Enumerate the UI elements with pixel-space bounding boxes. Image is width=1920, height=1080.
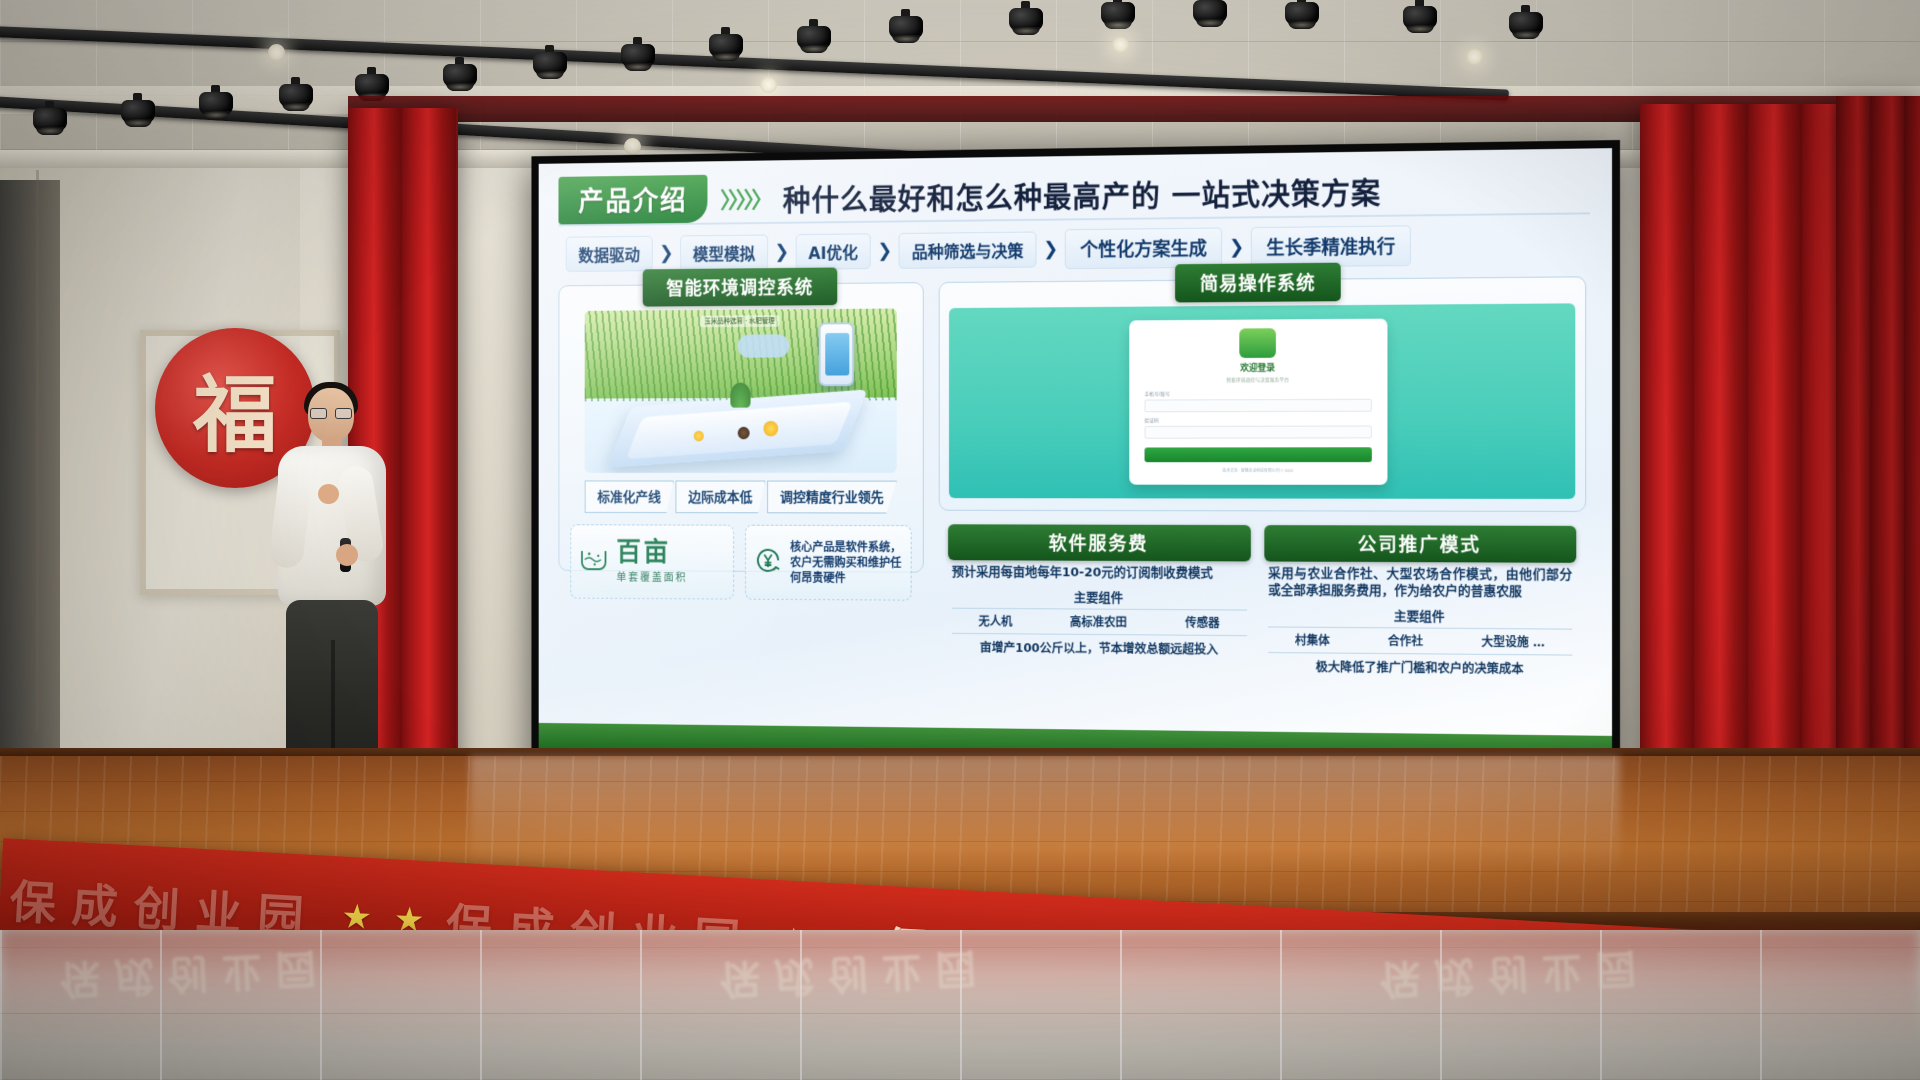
feature-pill-3: 调控精度行业领先 (767, 481, 897, 514)
pricing-tag-1: 无人机 (979, 613, 1013, 630)
chevron-run-icon: 〉〉〉〉〉 (720, 182, 770, 215)
pricing-tag-3: 传感器 (1185, 614, 1220, 631)
spotlight-icon (618, 44, 658, 74)
spotlight-icon (530, 52, 570, 82)
spotlight-icon (1006, 8, 1046, 38)
app-code-input[interactable] (1145, 426, 1372, 439)
pricing-card-header: 软件服务费 (948, 524, 1251, 561)
feature-pill-2: 边际成本低 (675, 481, 765, 514)
spotlight-icon (276, 84, 316, 114)
presenter-trousers (286, 600, 378, 770)
app-login-button[interactable] (1145, 447, 1372, 462)
cloud-icon (738, 334, 790, 357)
presentation-hall-scene: 产品介绍 〉〉〉〉〉 种什么最好和怎么种最高产的 一站式决策方案 数据驱动 ❯ … (0, 0, 1920, 1080)
coverage-stat-text: 百亩 单套覆盖面积 (616, 539, 687, 584)
presenter (252, 388, 412, 808)
promotion-card-subtitle: 主要组件 (1268, 605, 1572, 626)
spotlight-icon (1506, 12, 1546, 42)
pricing-card-body: 预计采用每亩地每年10-20元的订阅制收费模式 主要组件 无人机 高标准农田 传… (948, 560, 1251, 657)
promotion-card-tags: 村集体 合作社 大型设施 … (1268, 626, 1572, 655)
downlight-icon (268, 44, 285, 61)
app-login-card: 欢迎登录 智能环境调控与决策服务平台 手机号/账号 验证码 技术支持 · 智慧农… (1129, 319, 1387, 485)
process-step-2: 模型模拟 (680, 234, 768, 270)
left-info-cards: 百亩 单套覆盖面积 (559, 517, 922, 615)
left-column: 智能环境调控系统 玉米品种选育 · 水肥管理 (558, 282, 923, 680)
business-model-cards: 软件服务费 预计采用每亩地每年10-20元的订阅制收费模式 主要组件 无人机 高… (939, 524, 1586, 687)
soil-dot-icon (738, 427, 750, 440)
promotion-card: 公司推广模式 采用与农业合作社、大型农场合作模式，由他们部分或全部承担服务费用，… (1264, 525, 1576, 677)
foreground-floor: 保成创业园 保成创业园 保成创业园 (0, 930, 1920, 1080)
led-screen-surface[interactable]: 产品介绍 〉〉〉〉〉 种什么最好和怎么种最高产的 一站式决策方案 数据驱动 ❯ … (539, 148, 1612, 736)
sprout-icon (730, 383, 750, 408)
app-logo-icon (1239, 328, 1276, 358)
promotion-card-header: 公司推广模式 (1264, 525, 1576, 563)
promotion-card-body: 采用与农业合作社、大型农场合作模式，由他们部分或全部承担服务费用，作为给农户的普… (1264, 561, 1576, 676)
curtain-right (1640, 104, 1840, 804)
app-field2-label: 验证码 (1145, 417, 1372, 424)
app-footer-text: 技术支持 · 智慧农业科技有限公司 © 2024 (1145, 468, 1372, 474)
wall-shadow-column (0, 180, 60, 760)
floor-reflected-text: 保成创业园 (59, 942, 331, 1012)
coverage-stat-card: 百亩 单套覆盖面积 (570, 524, 734, 599)
glasses-icon (310, 408, 352, 419)
presenter-left-hand (318, 484, 339, 504)
app-account-input[interactable] (1145, 399, 1372, 412)
spotlight-icon (1282, 2, 1322, 32)
slide-columns: 智能环境调控系统 玉米品种选育 · 水肥管理 (558, 276, 1590, 687)
floor-reflected-text: 保成创业园 (719, 942, 991, 1012)
phone-mockup-icon (819, 322, 854, 386)
spotlight-icon (118, 100, 158, 130)
coverage-number: 百亩 (616, 539, 687, 565)
pricing-card-subtitle: 主要组件 (952, 586, 1247, 606)
left-panel: 智能环境调控系统 玉米品种选育 · 水肥管理 (558, 282, 923, 572)
chevron-right-icon: ❯ (656, 242, 676, 264)
slide-section-tag: 产品介绍 (558, 175, 707, 225)
right-column: 简易操作系统 欢迎登录 智能环境调控与决策服务平台 手机号/账号 验证码 (939, 276, 1586, 687)
feature-pill-1: 标准化产线 (585, 480, 674, 513)
promotion-card-footer: 极大降低了推广门槛和农户的决策成本 (1268, 659, 1572, 677)
coverage-label: 单套覆盖面积 (616, 569, 687, 585)
downlight-icon (624, 138, 641, 155)
promotion-tag-3: 大型设施 … (1481, 633, 1544, 650)
promotion-tag-2: 合作社 (1388, 632, 1423, 649)
illustration-caption: 玉米品种选育 · 水肥管理 (700, 315, 780, 327)
presenter-right-hand (336, 544, 358, 566)
left-panel-header: 智能环境调控系统 (643, 267, 838, 306)
process-step-3: AI优化 (796, 233, 871, 269)
downlight-icon (1466, 48, 1483, 65)
spotlight-icon (196, 92, 236, 122)
presentation-slide: 产品介绍 〉〉〉〉〉 种什么最好和怎么种最高产的 一站式决策方案 数据驱动 ❯ … (539, 148, 1612, 736)
app-login-subtitle: 智能环境调控与决策服务平台 (1145, 376, 1372, 384)
system-illustration: 玉米品种选育 · 水肥管理 (585, 308, 897, 472)
spotlight-icon (1400, 6, 1440, 36)
spotlight-icon (794, 26, 834, 56)
chevron-right-icon: ❯ (1226, 236, 1247, 259)
process-step-6: 生长季精准执行 (1251, 225, 1411, 267)
process-steps: 数据驱动 ❯ 模型模拟 ❯ AI优化 ❯ 品种筛选与决策 ❯ 个性化方案生成 ❯… (558, 223, 1590, 274)
chevron-right-icon: ❯ (875, 240, 895, 262)
downlight-icon (1112, 36, 1129, 53)
app-field1-label: 手机号/账号 (1145, 390, 1372, 398)
pricing-card: 软件服务费 预计采用每亩地每年10-20元的订阅制收费模式 主要组件 无人机 高… (948, 524, 1251, 674)
software-note-card: 核心产品是软件系统，农户无需购买和维护任何昂贵硬件 (745, 525, 912, 601)
app-login-title: 欢迎登录 (1145, 360, 1372, 374)
pricing-card-text: 预计采用每亩地每年10-20元的订阅制收费模式 (952, 565, 1247, 583)
spotlight-icon (886, 16, 926, 46)
app-screenshot-frame: 欢迎登录 智能环境调控与决策服务平台 手机号/账号 验证码 技术支持 · 智慧农… (949, 303, 1575, 499)
spotlight-icon (706, 34, 746, 64)
spotlight-icon (440, 64, 480, 94)
coverage-basin-icon (578, 545, 609, 579)
feature-pills: 标准化产线 边际成本低 调控精度行业领先 (559, 480, 922, 513)
yuan-circle-arrow-icon (753, 544, 782, 580)
led-screen-frame: 产品介绍 〉〉〉〉〉 种什么最好和怎么种最高产的 一站式决策方案 数据驱动 ❯ … (531, 140, 1620, 800)
curtain-far-right (1836, 96, 1920, 812)
slide-title-row: 产品介绍 〉〉〉〉〉 种什么最好和怎么种最高产的 一站式决策方案 (558, 164, 1590, 226)
spotlight-icon (30, 108, 70, 138)
chevron-right-icon: ❯ (772, 241, 792, 263)
floor-reflected-text: 保成创业园 (1379, 942, 1651, 1012)
promotion-tag-1: 村集体 (1295, 631, 1330, 648)
right-panel-header: 简易操作系统 (1175, 263, 1341, 303)
chevron-right-icon: ❯ (1040, 238, 1061, 261)
promotion-card-text: 采用与农业合作社、大型农场合作模式，由他们部分或全部承担服务费用，作为给农户的普… (1268, 566, 1572, 601)
pricing-tag-2: 高标准农田 (1070, 613, 1127, 630)
pricing-card-footer: 亩增产100公斤以上，节本增效总额远超投入 (952, 640, 1247, 658)
process-step-1: 数据驱动 (566, 236, 653, 272)
process-step-4: 品种筛选与决策 (899, 232, 1037, 269)
process-step-5: 个性化方案生成 (1065, 227, 1222, 269)
pricing-card-tags: 无人机 高标准农田 传感器 (952, 608, 1247, 636)
right-panel: 简易操作系统 欢迎登录 智能环境调控与决策服务平台 手机号/账号 验证码 (939, 276, 1586, 512)
sensor-dot-icon (694, 431, 704, 442)
sensor-dot-icon (763, 421, 778, 436)
wall-seam (36, 170, 39, 730)
spotlight-icon (1190, 0, 1230, 30)
spotlight-icon (1098, 2, 1138, 32)
downlight-icon (760, 76, 777, 93)
software-note-text: 核心产品是软件系统，农户无需购买和维护任何昂贵硬件 (790, 539, 903, 586)
page-title: 种什么最好和怎么种最高产的 一站式决策方案 (783, 168, 1381, 219)
